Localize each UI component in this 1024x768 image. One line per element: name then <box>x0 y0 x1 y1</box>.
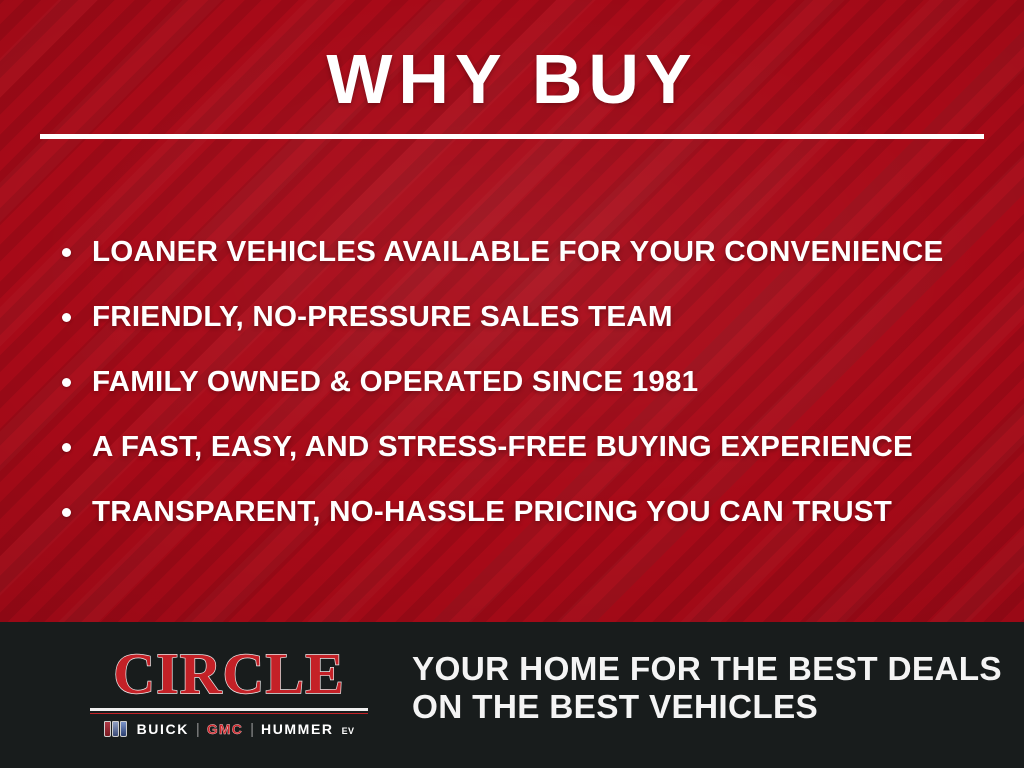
dealer-wordmark: CIRCLE <box>84 645 374 703</box>
bullet-dot-icon <box>62 248 71 257</box>
title-divider-rule <box>40 134 984 139</box>
list-item: LOANER VEHICLES AVAILABLE FOR YOUR CONVE… <box>62 220 992 285</box>
tagline-line-2: ON THE BEST VEHICLES <box>412 688 1002 726</box>
brand-label-buick: BUICK <box>137 722 189 736</box>
brand-separator: | <box>250 722 254 737</box>
list-item-label: FRIENDLY, NO-PRESSURE SALES TEAM <box>92 303 673 332</box>
buick-tri-shield-icon <box>104 721 127 737</box>
brand-label-hummer: HUMMER <box>261 722 334 736</box>
page-title: WHY BUY <box>0 44 1024 114</box>
logo-underline-thick <box>90 708 368 711</box>
bullet-dot-icon <box>62 508 71 517</box>
list-item-label: A FAST, EASY, AND STRESS-FREE BUYING EXP… <box>92 433 913 462</box>
list-item-label: FAMILY OWNED & OPERATED SINCE 1981 <box>92 368 698 397</box>
bullet-dot-icon <box>62 378 71 387</box>
list-item: FAMILY OWNED & OPERATED SINCE 1981 <box>62 350 992 415</box>
list-item: A FAST, EASY, AND STRESS-FREE BUYING EXP… <box>62 415 992 480</box>
list-item: TRANSPARENT, NO-HASSLE PRICING YOU CAN T… <box>62 480 992 545</box>
why-buy-slide: WHY BUY LOANER VEHICLES AVAILABLE FOR YO… <box>0 0 1024 768</box>
list-item-label: LOANER VEHICLES AVAILABLE FOR YOUR CONVE… <box>92 238 943 267</box>
bullet-dot-icon <box>62 313 71 322</box>
logo-underline-thin <box>90 713 368 714</box>
tagline-line-1: YOUR HOME FOR THE BEST DEALS <box>412 650 1002 688</box>
benefits-list: LOANER VEHICLES AVAILABLE FOR YOUR CONVE… <box>62 220 992 545</box>
bullet-dot-icon <box>62 443 71 452</box>
list-item: FRIENDLY, NO-PRESSURE SALES TEAM <box>62 285 992 350</box>
footer-tagline: YOUR HOME FOR THE BEST DEALS ON THE BEST… <box>412 650 996 726</box>
brand-strip: BUICK | GMC | HUMMER EV <box>84 721 374 737</box>
dealer-logo: CIRCLE BUICK | GMC | HUMMER EV <box>84 645 374 737</box>
brand-separator: | <box>196 722 200 737</box>
brand-label-gmc: GMC <box>207 722 243 736</box>
list-item-label: TRANSPARENT, NO-HASSLE PRICING YOU CAN T… <box>92 498 892 527</box>
brand-label-ev: EV <box>342 727 355 737</box>
